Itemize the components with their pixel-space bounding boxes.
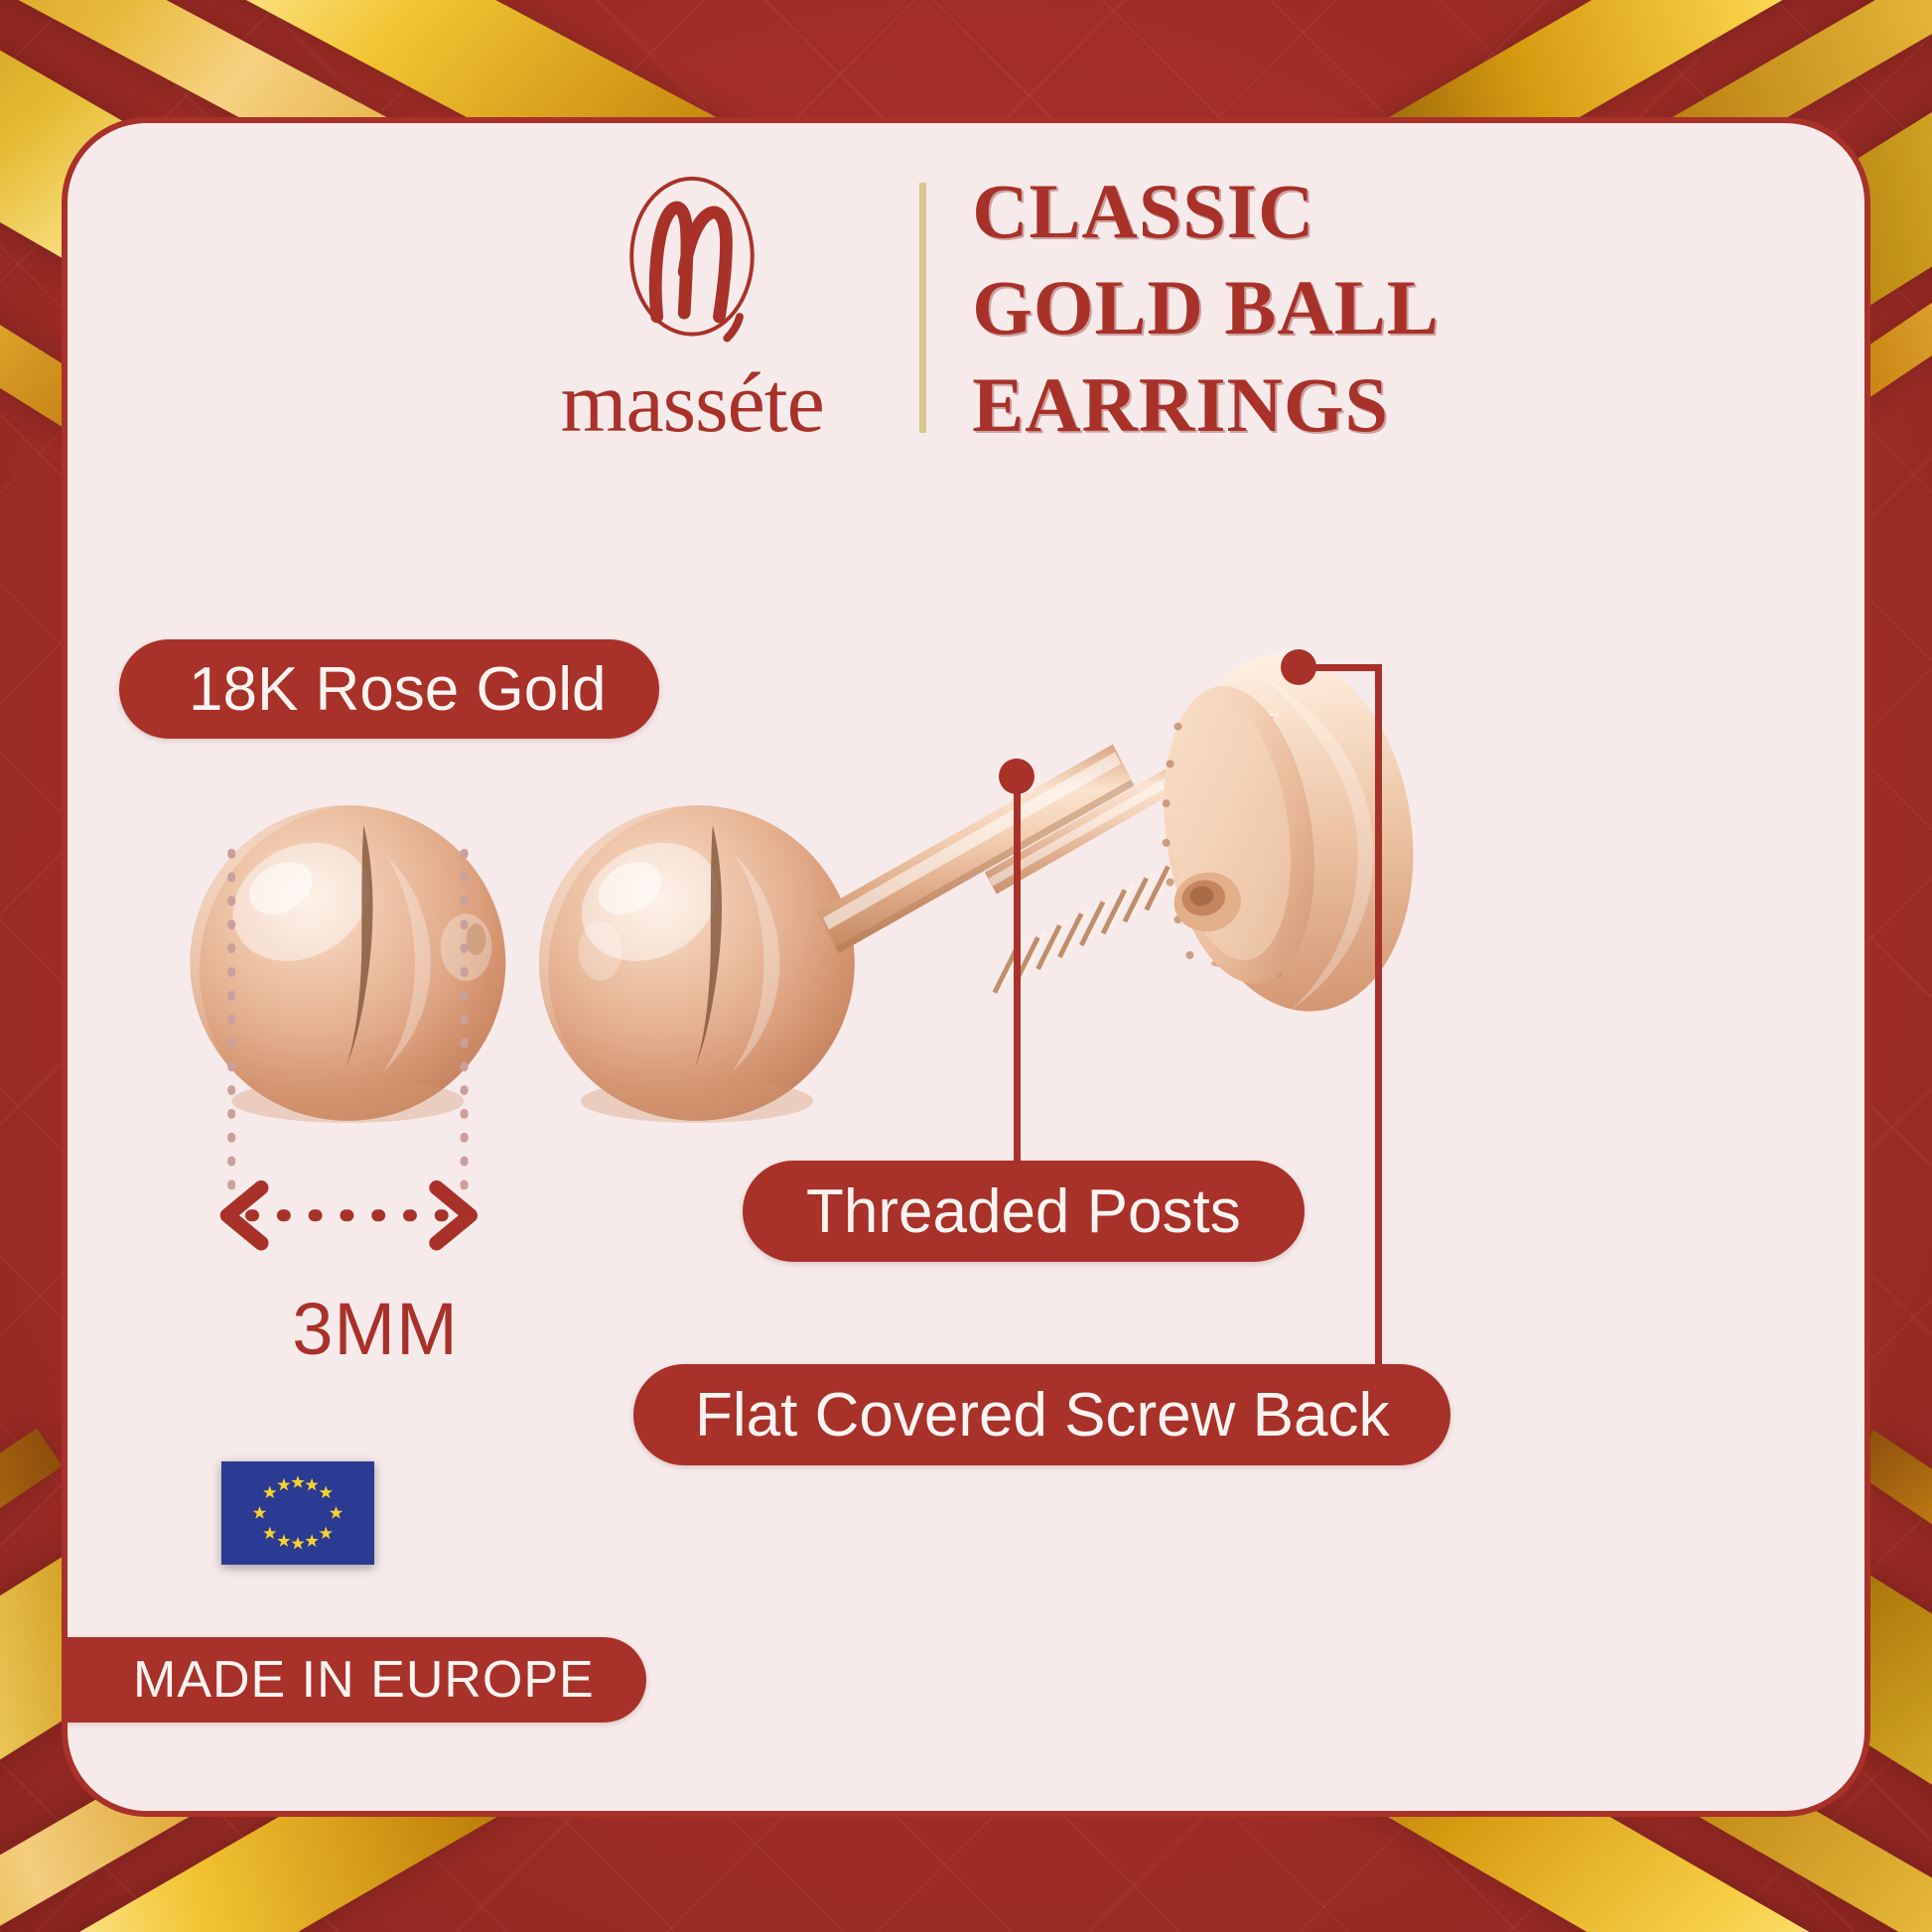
badge-flat-covered-screw-back: Flat Covered Screw Back xyxy=(633,1364,1450,1465)
european-union-flag-icon xyxy=(221,1461,374,1565)
callout-line-screw-back-h xyxy=(1311,664,1382,671)
product-info-card: masséte CLASSIC GOLD BALL EARRINGS xyxy=(62,117,1870,1817)
dimension-label: 3MM xyxy=(246,1287,504,1371)
callout-line-threaded-posts xyxy=(1014,776,1021,1164)
callout-line-screw-back-v xyxy=(1375,664,1382,1371)
badge-made-in-europe: MADE IN EUROPE xyxy=(62,1637,646,1723)
badge-material: 18K Rose Gold xyxy=(119,639,659,739)
badge-threaded-posts: Threaded Posts xyxy=(743,1161,1305,1262)
infographic-canvas: masséte CLASSIC GOLD BALL EARRINGS xyxy=(0,0,1932,1932)
